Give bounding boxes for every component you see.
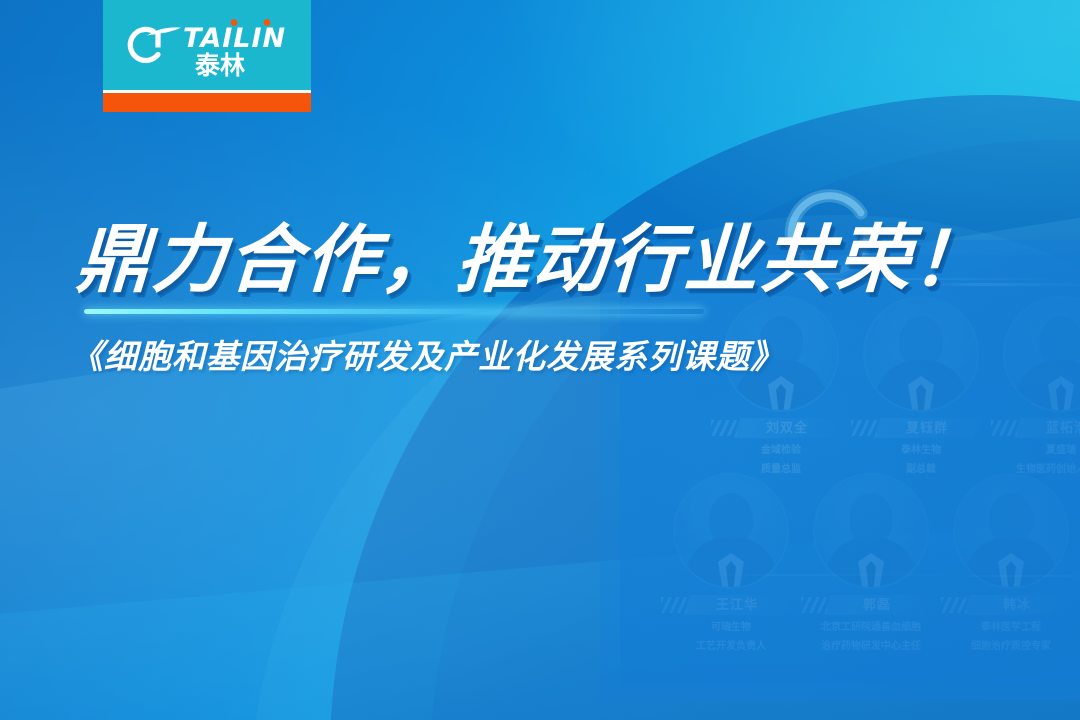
tailin-logo-icon: TAILIN 泰林	[117, 14, 299, 78]
expert-name: 夏钰群	[877, 418, 977, 438]
expert-row-1: 刘双全 金域检验 质量总监 夏钰群 泰林生物 副总裁	[725, 298, 1080, 476]
expert-name: 刘双全	[737, 418, 837, 438]
expert-name: 郭磊	[827, 595, 927, 615]
expert-affiliation: 夏盛瑞	[1005, 444, 1080, 457]
expert-nameplate: 夏钰群	[865, 418, 977, 438]
expert-nameplate: 蓝柘浩	[1005, 418, 1080, 438]
avatar	[865, 298, 977, 410]
page-subtitle: 《细胞和基因治疗研发及产业化发展系列课题》	[70, 330, 784, 378]
expert-affiliation: 泰林医学工程	[955, 621, 1067, 634]
stripe-decoration-icon	[711, 420, 737, 436]
expert-card: 刘双全 金域检验 质量总监	[725, 298, 837, 476]
expert-nameplate: 刘双全	[725, 418, 837, 438]
page-title: 鼎力合作，推动行业共荣！	[74, 222, 990, 300]
accent-divider	[84, 309, 704, 314]
expert-row-2: 王江华 可瑞生物 工艺开发负责人 郭磊 北京工研院通善血细胞 治疗药物研发中心主…	[675, 475, 1067, 653]
stripe-decoration-icon	[661, 597, 687, 613]
stripe-decoration-icon	[991, 420, 1017, 436]
stripe-decoration-icon	[801, 597, 827, 613]
avatar	[675, 475, 787, 587]
expert-name: 王江华	[687, 595, 787, 615]
expert-card: 蓝柘浩 夏盛瑞 生物医药创始人、总	[1005, 298, 1080, 476]
expert-card: 王江华 可瑞生物 工艺开发负责人	[675, 475, 787, 653]
avatar	[955, 475, 1067, 587]
logo-orange-bar	[103, 93, 311, 112]
promo-banner: 刘双全 金域检验 质量总监 夏钰群 泰林生物 副总裁	[0, 0, 1080, 720]
expert-affiliation: 可瑞生物	[675, 621, 787, 634]
tailin-logo-block: TAILIN 泰林	[103, 0, 311, 112]
expert-card: 郭磊 北京工研院通善血细胞 治疗药物研发中心主任	[815, 475, 927, 653]
expert-nameplate: 郭磊	[815, 595, 927, 615]
svg-text:TAILIN: TAILIN	[183, 23, 286, 54]
expert-affiliation: 金域检验	[725, 444, 837, 457]
expert-name: 蓝柘浩	[1017, 418, 1080, 438]
avatar	[815, 475, 927, 587]
expert-nameplate: 韩冰	[955, 595, 1067, 615]
stripe-decoration-icon	[941, 597, 967, 613]
svg-text:泰林: 泰林	[195, 51, 245, 78]
stripe-decoration-icon	[851, 420, 877, 436]
expert-nameplate: 王江华	[675, 595, 787, 615]
expert-card: 韩冰 泰林医学工程 细胞治疗质控专家	[955, 475, 1067, 653]
expert-role: 治疗药物研发中心主任	[815, 640, 927, 653]
expert-role: 细胞治疗质控专家	[955, 640, 1067, 653]
expert-affiliation: 泰林生物	[865, 444, 977, 457]
expert-role: 工艺开发负责人	[675, 640, 787, 653]
avatar	[1005, 298, 1080, 410]
expert-name: 韩冰	[967, 595, 1067, 615]
expert-affiliation: 北京工研院通善血细胞	[815, 621, 927, 634]
expert-card: 夏钰群 泰林生物 副总裁	[865, 298, 977, 476]
